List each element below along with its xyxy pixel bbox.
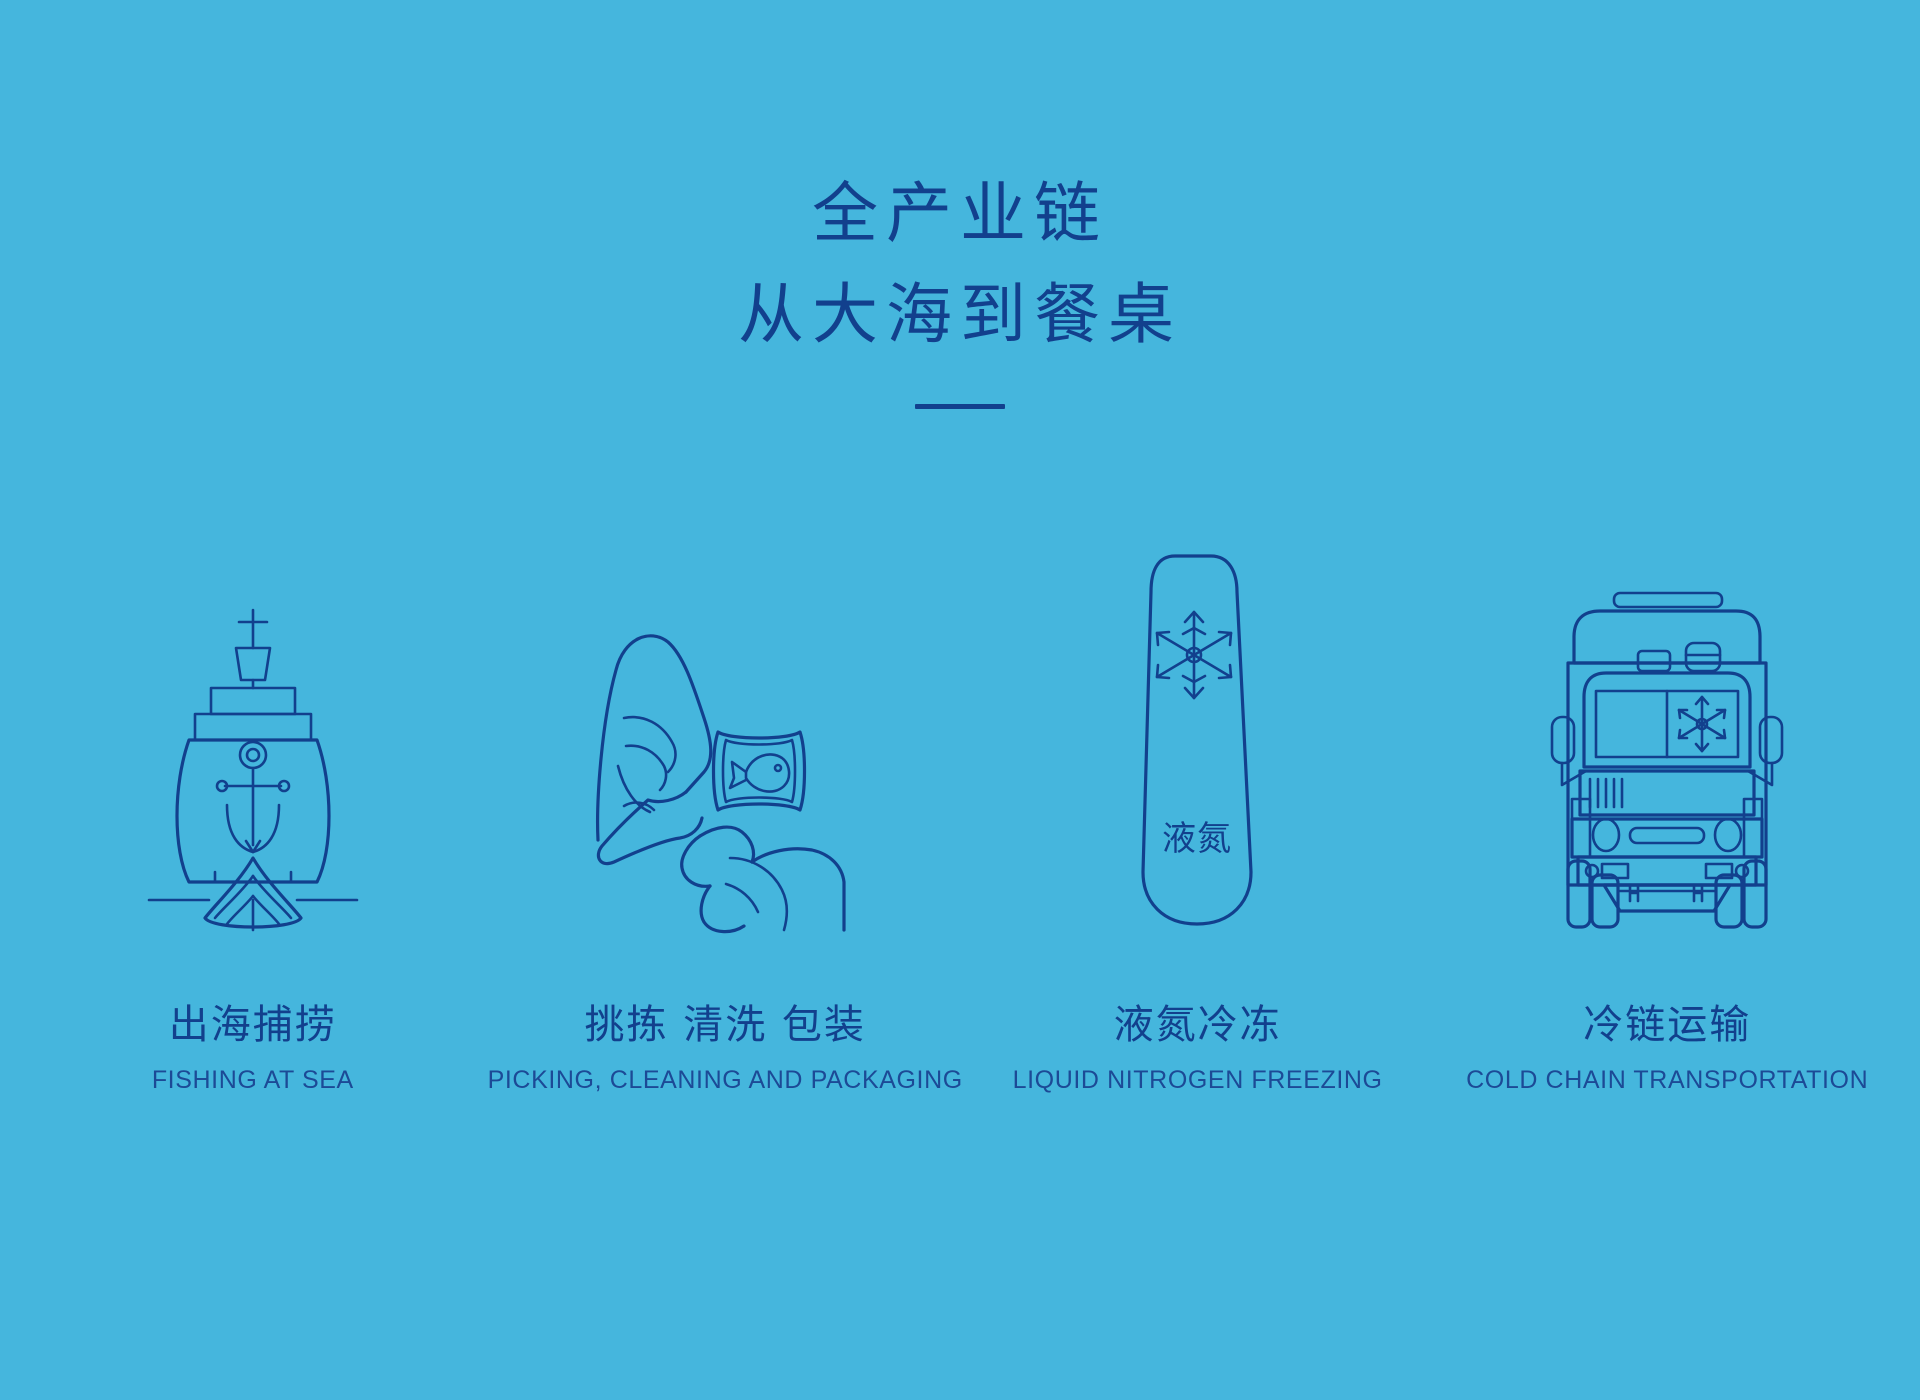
step-label-cn: 出海捕捞 <box>152 1002 354 1048</box>
step-labels: 出海捕捞 FISHING AT SEA <box>152 1002 354 1095</box>
step-cold-chain-transportation: 冷链运输 COLD CHAIN TRANSPORTATION <box>1432 530 1902 1095</box>
tank-label-text: 液氮 <box>1162 819 1232 859</box>
hands-with-fish-package-icon <box>580 600 870 930</box>
step-labels: 冷链运输 COLD CHAIN TRANSPORTATION <box>1466 1002 1868 1095</box>
step-icon-wrap <box>1542 530 1792 930</box>
step-icon-wrap <box>580 530 870 930</box>
snowflake-icon <box>1679 697 1725 751</box>
step-picking-cleaning-packaging: 挑拣 清洗 包装 PICKING, CLEANING AND PACKAGING <box>488 530 963 1095</box>
step-label-en: PICKING, CLEANING AND PACKAGING <box>488 1066 963 1095</box>
step-label-en: LIQUID NITROGEN FREEZING <box>1013 1066 1383 1095</box>
step-labels: 液氮冷冻 LIQUID NITROGEN FREEZING <box>1013 1002 1383 1095</box>
fishing-boat-icon <box>143 600 363 930</box>
divider-wrap <box>0 404 1920 409</box>
refrigerated-truck-icon <box>1542 585 1792 930</box>
snowflake-icon <box>1157 612 1231 698</box>
title-divider <box>915 404 1005 409</box>
liquid-nitrogen-tank-icon: 液氮 <box>1133 550 1263 930</box>
process-steps: 出海捕捞 FISHING AT SEA <box>0 530 1920 1095</box>
header: 全产业链 从大海到餐桌 <box>0 170 1920 409</box>
step-labels: 挑拣 清洗 包装 PICKING, CLEANING AND PACKAGING <box>488 1002 963 1095</box>
step-icon-wrap <box>143 530 363 930</box>
page-title-primary: 全产业链 <box>0 170 1920 257</box>
step-icon-wrap: 液氮 <box>1133 530 1263 930</box>
step-label-cn: 挑拣 清洗 包装 <box>488 1002 963 1048</box>
step-label-en: FISHING AT SEA <box>152 1066 354 1095</box>
step-liquid-nitrogen-freezing: 液氮 液氮冷冻 LIQUID NITROGEN FREEZING <box>963 530 1433 1095</box>
step-label-cn: 冷链运输 <box>1466 1002 1868 1048</box>
step-label-cn: 液氮冷冻 <box>1013 1002 1383 1048</box>
step-label-en: COLD CHAIN TRANSPORTATION <box>1466 1066 1868 1095</box>
step-fishing-at-sea: 出海捕捞 FISHING AT SEA <box>18 530 488 1095</box>
infographic-page: 全产业链 从大海到餐桌 <box>0 0 1920 1400</box>
page-title-secondary: 从大海到餐桌 <box>0 271 1920 358</box>
